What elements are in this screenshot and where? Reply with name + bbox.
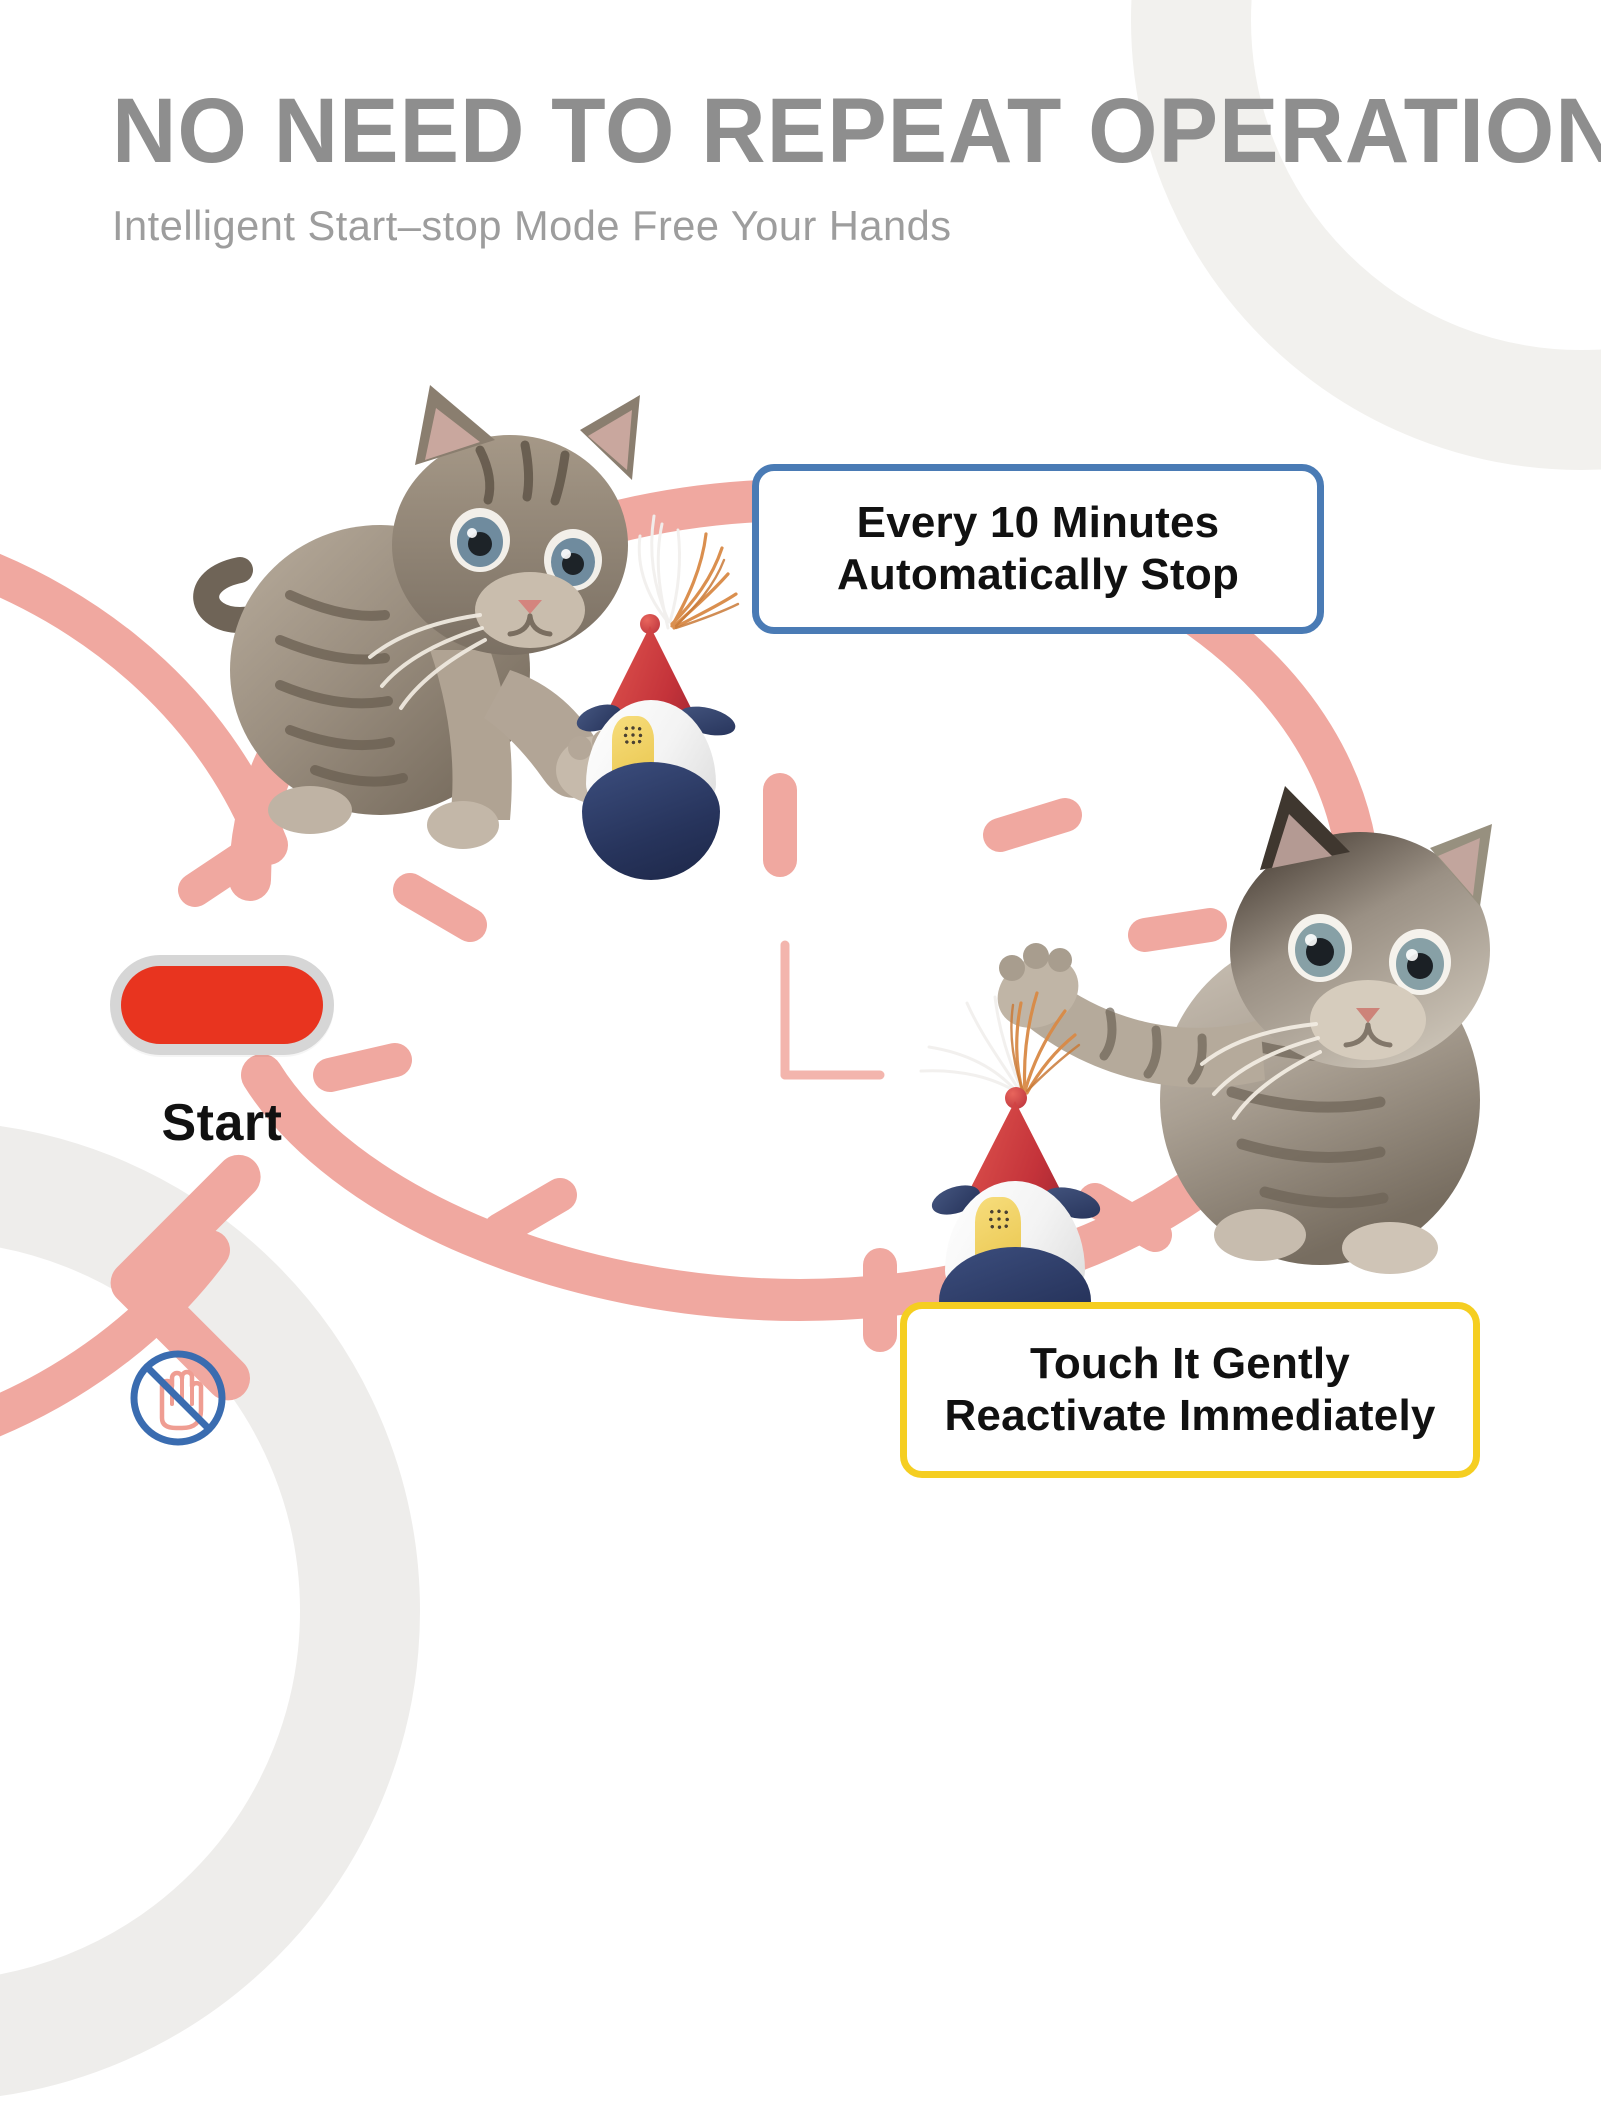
feather-left <box>596 502 746 632</box>
clock-hands <box>785 945 880 1075</box>
start-control[interactable]: Start <box>110 955 334 1153</box>
no-hands-icon <box>118 1330 238 1450</box>
reactivate-callout: Touch It Gently Reactivate Immediately <box>900 1302 1480 1478</box>
auto-stop-line-2: Automatically Stop <box>837 549 1239 601</box>
auto-stop-line-1: Every 10 Minutes <box>837 497 1239 549</box>
start-button-label: Start <box>110 1093 334 1153</box>
toy-speaker-grill <box>987 1207 1011 1231</box>
auto-stop-callout: Every 10 Minutes Automatically Stop <box>752 464 1324 634</box>
tumbler-cat-toy-left <box>566 510 746 810</box>
reactivate-line-1: Touch It Gently <box>944 1338 1435 1390</box>
tumbler-cat-toy-right <box>925 975 1115 1295</box>
start-button[interactable] <box>110 955 334 1055</box>
infographic-stage: NO NEED TO REPEAT OPERATIONS Intelligent… <box>0 0 1601 1601</box>
feather-right <box>903 941 1083 1101</box>
reactivate-line-2: Reactivate Immediately <box>944 1390 1435 1442</box>
toy-speaker-grill <box>622 724 644 746</box>
